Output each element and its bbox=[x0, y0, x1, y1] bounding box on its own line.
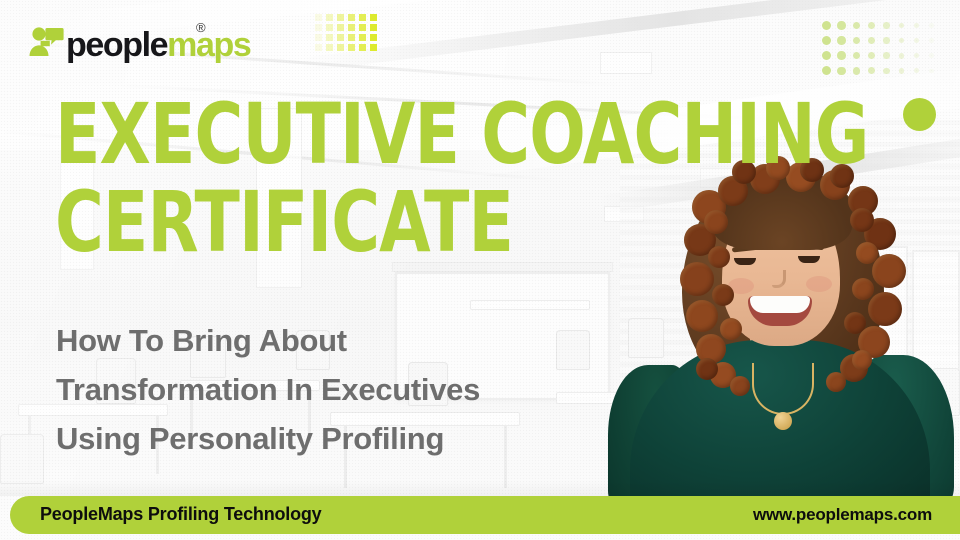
hair-curl bbox=[852, 278, 874, 300]
dot-grid-left bbox=[315, 14, 378, 51]
subtitle-line-3: Using Personality Profiling bbox=[56, 414, 656, 463]
dot bbox=[315, 44, 322, 51]
dot bbox=[348, 44, 355, 51]
dot bbox=[822, 51, 831, 60]
cheek-right bbox=[806, 276, 832, 292]
hair-curl bbox=[712, 284, 734, 306]
dot bbox=[315, 14, 322, 21]
dot bbox=[326, 34, 333, 41]
dot bbox=[929, 38, 934, 43]
footer-left-label: PeopleMaps Profiling Technology bbox=[40, 504, 322, 525]
dot bbox=[853, 37, 861, 45]
dot bbox=[822, 66, 831, 75]
headline-line-1: EXECUTIVE COACHING bbox=[55, 85, 868, 183]
eye-right bbox=[798, 256, 820, 263]
dot bbox=[370, 24, 377, 31]
hair-curl bbox=[872, 254, 906, 288]
dot bbox=[370, 34, 377, 41]
hair-curl bbox=[686, 300, 718, 332]
hair-curl bbox=[696, 358, 718, 380]
dot bbox=[348, 14, 355, 21]
green-circle-icon bbox=[903, 98, 936, 131]
dot bbox=[868, 37, 875, 44]
hair-curl bbox=[852, 350, 872, 370]
dot bbox=[899, 53, 905, 59]
hair-curl bbox=[856, 242, 878, 264]
dot bbox=[929, 23, 934, 28]
dot bbox=[899, 38, 905, 44]
dot bbox=[337, 14, 344, 21]
dot bbox=[914, 53, 919, 58]
dot bbox=[899, 23, 905, 29]
registered-trademark-symbol: ® bbox=[196, 20, 206, 35]
dot bbox=[822, 21, 831, 30]
dot bbox=[883, 37, 889, 43]
headline-line-2: CERTIFICATE bbox=[55, 178, 777, 266]
dot bbox=[337, 24, 344, 31]
dot bbox=[929, 69, 934, 74]
hair-curl bbox=[850, 208, 874, 232]
subtitle-line-1: How To Bring About bbox=[56, 316, 656, 365]
dot bbox=[326, 24, 333, 31]
teeth bbox=[750, 296, 810, 313]
footer-shadow bbox=[0, 480, 960, 496]
dot bbox=[868, 22, 875, 29]
dot bbox=[883, 52, 889, 58]
dot bbox=[868, 52, 875, 59]
dot bbox=[326, 44, 333, 51]
hair-curl bbox=[826, 372, 846, 392]
hair-curl bbox=[868, 292, 902, 326]
hair-curl bbox=[720, 318, 742, 340]
dot bbox=[883, 22, 889, 28]
dot bbox=[315, 24, 322, 31]
hair-curl bbox=[680, 262, 714, 296]
dot bbox=[337, 44, 344, 51]
necklace-pendant bbox=[774, 412, 792, 430]
dot bbox=[370, 44, 377, 51]
peoplemaps-logo[interactable]: peoplemaps bbox=[28, 20, 250, 62]
dot bbox=[315, 34, 322, 41]
dot bbox=[359, 34, 366, 41]
dot bbox=[337, 34, 344, 41]
dot bbox=[883, 68, 889, 74]
subtitle: How To Bring About Transformation In Exe… bbox=[56, 316, 656, 463]
dot bbox=[837, 36, 845, 44]
dot bbox=[837, 67, 845, 75]
dot bbox=[868, 67, 875, 74]
footer-website-label[interactable]: www.peoplemaps.com bbox=[753, 505, 932, 525]
dot bbox=[899, 68, 905, 74]
hair-curl bbox=[844, 312, 866, 334]
dot bbox=[359, 14, 366, 21]
dot bbox=[359, 24, 366, 31]
dot bbox=[348, 34, 355, 41]
dot bbox=[837, 21, 845, 29]
hair-curl bbox=[730, 376, 750, 396]
dot bbox=[914, 68, 919, 73]
headline: EXECUTIVE COACHING CERTIFICATE bbox=[55, 90, 777, 266]
logo-wordmark-people: people bbox=[66, 26, 167, 64]
dot bbox=[326, 14, 333, 21]
dot bbox=[359, 44, 366, 51]
dot-grid-right bbox=[822, 21, 936, 75]
dot bbox=[348, 24, 355, 31]
dot bbox=[370, 14, 377, 21]
logo-wordmark: peoplemaps bbox=[66, 28, 250, 62]
dot bbox=[837, 51, 845, 59]
slide-canvas: peoplemaps ® EXECUTIVE COACHING CERTIFIC… bbox=[0, 0, 960, 540]
dot bbox=[853, 22, 861, 30]
dot bbox=[914, 23, 919, 28]
two-people-with-speech-bubble-icon bbox=[28, 26, 64, 60]
dot bbox=[853, 52, 861, 60]
dot bbox=[853, 67, 861, 75]
dot bbox=[929, 53, 934, 58]
dot bbox=[914, 38, 919, 43]
dot bbox=[822, 36, 831, 45]
logo-wordmark-maps: maps bbox=[167, 26, 250, 64]
subtitle-line-2: Transformation In Executives bbox=[56, 365, 656, 414]
